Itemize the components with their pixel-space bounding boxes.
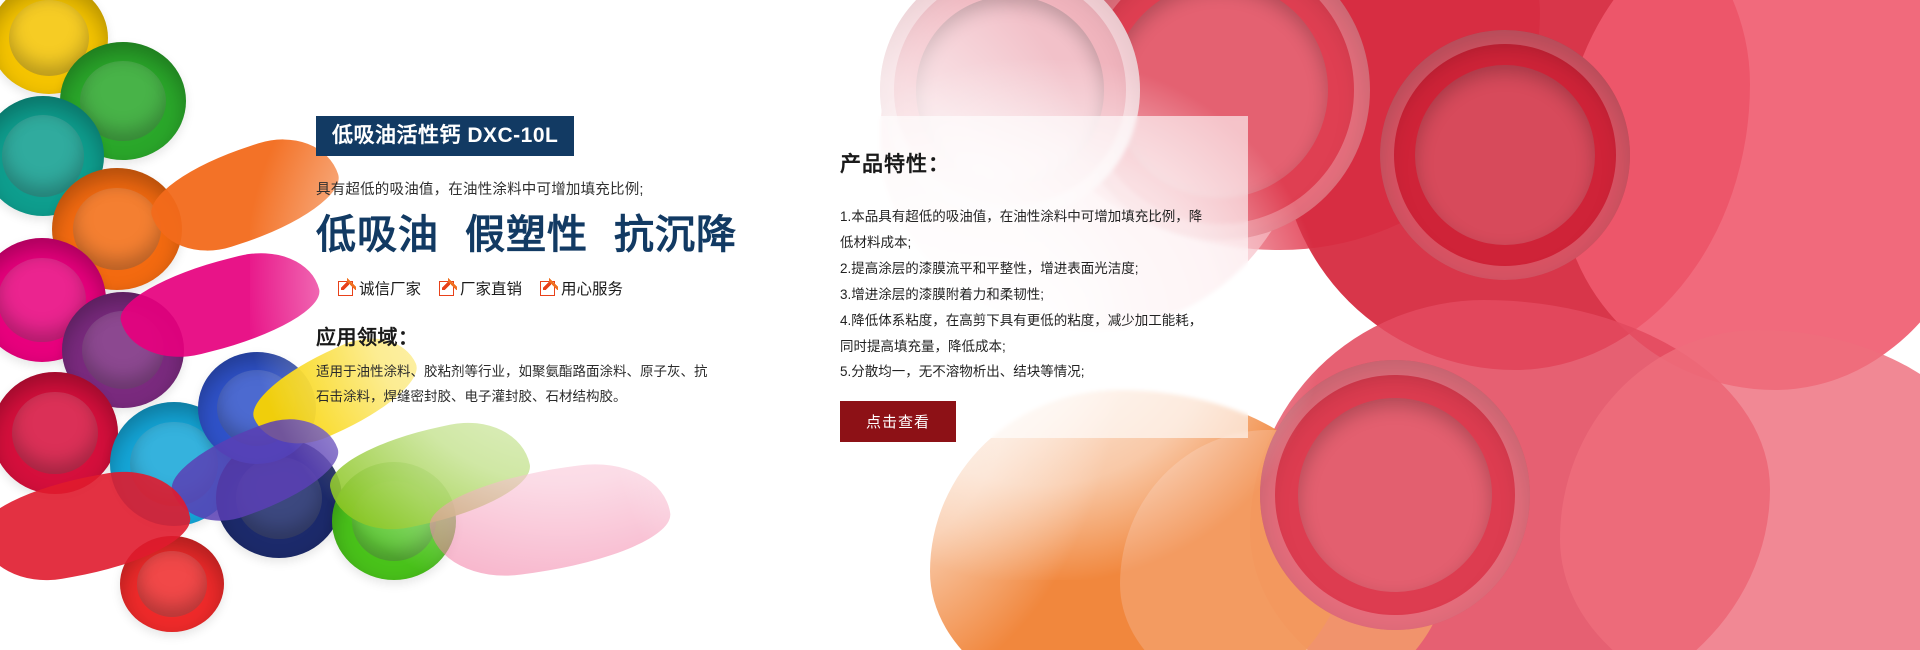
left-content-column: 低吸油活性钙 DXC-10L 具有超低的吸油值，在油性涂料中可增加填充比例; 低… <box>316 116 736 410</box>
paint-can-ring-lower <box>1260 360 1530 630</box>
trust-badge-3: 用心服务 <box>540 277 623 299</box>
trust-badge-label-2: 厂家直销 <box>460 277 522 299</box>
features-heading: 产品特性： <box>840 148 1212 178</box>
checkbox-icon <box>540 281 555 296</box>
headline-part-3: 抗沉降 <box>614 211 737 258</box>
trust-badge-label-1: 诚信厂家 <box>359 277 421 299</box>
banner-stage: 低吸油活性钙 DXC-10L 具有超低的吸油值，在油性涂料中可增加填充比例; 低… <box>0 0 1920 650</box>
view-details-button[interactable]: 点击查看 <box>840 401 956 442</box>
checkbox-icon <box>338 281 353 296</box>
trust-badge-2: 厂家直销 <box>439 277 522 299</box>
headline-part-1: 低吸油 <box>316 211 439 258</box>
trust-badge-label-3: 用心服务 <box>561 277 623 299</box>
checkbox-icon <box>439 281 454 296</box>
feature-item-2: 2.提高涂层的漆膜流平和平整性，增进表面光洁度; <box>840 256 1212 282</box>
trust-badges-row: 诚信厂家 厂家直销 用心服务 <box>338 277 736 299</box>
headline-part-2: 假塑性 <box>465 211 588 258</box>
paint-can-ring-right <box>1380 30 1630 280</box>
application-heading: 应用领域： <box>316 321 736 350</box>
product-title-banner: 低吸油活性钙 DXC-10L <box>316 116 574 156</box>
features-panel-inner: 产品特性： 1.本品具有超低的吸油值，在油性涂料中可增加填充比例，降低材料成本;… <box>804 116 1248 442</box>
feature-item-4: 4.降低体系粘度，在高剪下具有更低的粘度，减少加工能耗，同时提高填充量，降低成本… <box>840 308 1212 360</box>
application-body: 适用于油性涂料、胶粘剂等行业，如聚氨酯路面涂料、原子灰、抗石击涂料，焊缝密封胶、… <box>316 360 708 410</box>
feature-item-5: 5.分散均一，无不溶物析出、结块等情况; <box>840 359 1212 385</box>
feature-item-3: 3.增进涂层的漆膜附着力和柔韧性; <box>840 282 1212 308</box>
features-panel: 产品特性： 1.本品具有超低的吸油值，在油性涂料中可增加填充比例，降低材料成本;… <box>804 116 1248 438</box>
features-list: 1.本品具有超低的吸油值，在油性涂料中可增加填充比例，降低材料成本; 2.提高涂… <box>840 204 1212 385</box>
trust-badge-1: 诚信厂家 <box>338 277 421 299</box>
feature-item-1: 1.本品具有超低的吸油值，在油性涂料中可增加填充比例，降低材料成本; <box>840 204 1212 256</box>
product-subtitle: 具有超低的吸油值，在油性涂料中可增加填充比例; <box>316 178 736 199</box>
product-headline: 低吸油假塑性抗沉降 <box>316 213 736 257</box>
